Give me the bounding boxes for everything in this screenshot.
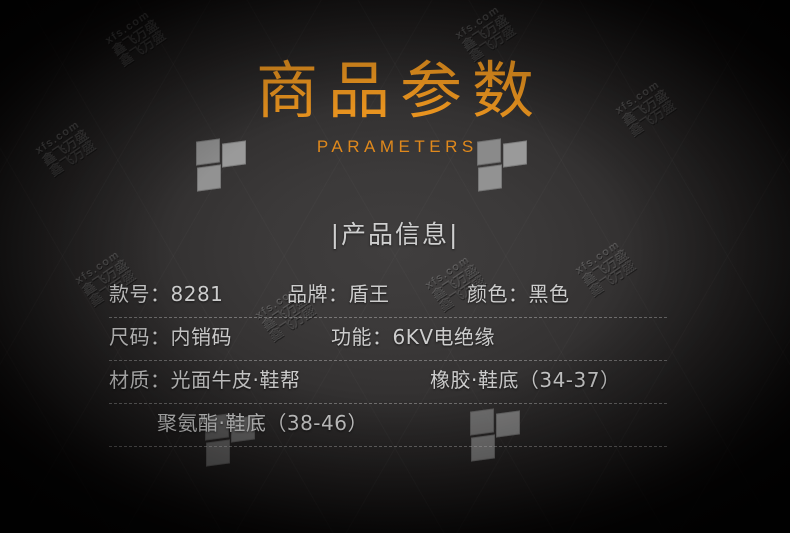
spec-label: 尺码： xyxy=(109,325,171,349)
spec-value: 光面牛皮·鞋帮 xyxy=(171,368,301,392)
spec-value: 6KV电绝缘 xyxy=(393,325,496,349)
spec-label: 功能： xyxy=(331,325,393,349)
product-parameters-banner: xfs.com 鑫飞万盛 鑫飞万盛 xfs.com 鑫飞万盛 鑫飞万盛 xfs.… xyxy=(0,0,790,533)
banner-header: 商品参数 PARAMETERS xyxy=(0,0,790,157)
spec-cell: 橡胶·鞋底（34-37） xyxy=(430,364,620,393)
spec-indent-spacer xyxy=(109,407,157,431)
spec-value: 橡胶·鞋底（34-37） xyxy=(430,368,620,392)
section-heading: |产品信息| xyxy=(0,215,790,251)
page-title: 商品参数 xyxy=(0,0,790,125)
spec-label: 材质： xyxy=(109,368,171,392)
spec-value: 聚氨酯·鞋底（38-46） xyxy=(157,411,368,435)
table-row: 聚氨酯·鞋底（38-46） xyxy=(109,404,667,447)
spec-value: 黑色 xyxy=(529,282,570,306)
spec-label: 款号： xyxy=(109,282,171,306)
spec-cell: 尺码：内销码 xyxy=(109,321,331,350)
spec-label: 品牌： xyxy=(287,282,349,306)
table-row: 尺码：内销码 功能：6KV电绝缘 xyxy=(109,318,667,361)
spec-label: 颜色： xyxy=(467,282,529,306)
spec-value: 盾王 xyxy=(349,282,390,306)
table-row: 款号：8281 品牌：盾王 颜色：黑色 xyxy=(109,275,667,318)
spec-cell: 颜色：黑色 xyxy=(467,278,570,307)
spec-cell: 款号：8281 xyxy=(109,278,287,307)
spec-value: 内销码 xyxy=(171,325,233,349)
table-row: 材质：光面牛皮·鞋帮 橡胶·鞋底（34-37） xyxy=(109,361,667,404)
spec-cell: 品牌：盾王 xyxy=(287,278,467,307)
spec-cell: 功能：6KV电绝缘 xyxy=(331,321,495,350)
spec-value: 8281 xyxy=(171,282,224,306)
spec-cell: 材质：光面牛皮·鞋帮 xyxy=(109,364,430,393)
spec-cell: 聚氨酯·鞋底（38-46） xyxy=(157,407,368,436)
page-subtitle: PARAMETERS xyxy=(0,125,790,157)
spec-table: 款号：8281 品牌：盾王 颜色：黑色 尺码：内销码 功能：6KV电绝缘 xyxy=(109,275,667,447)
